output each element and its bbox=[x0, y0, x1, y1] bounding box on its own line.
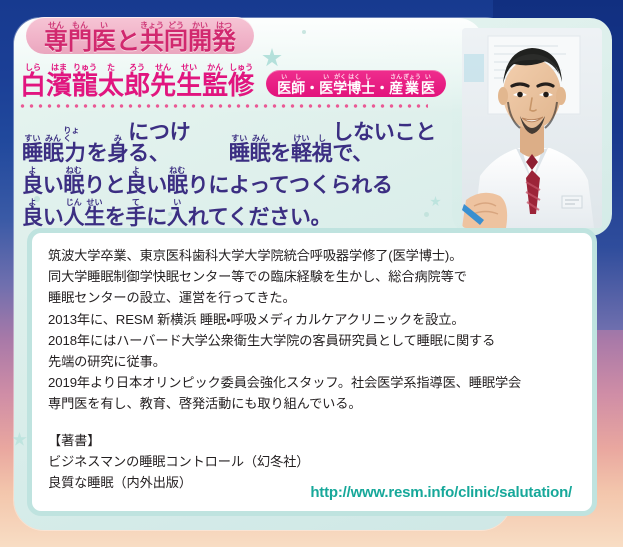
ruby-group: みん眠 bbox=[43, 135, 64, 164]
message-line: よ良 いじん人せい生 をて手 にい入 れてください。 bbox=[22, 199, 472, 228]
ruby-group: を bbox=[105, 199, 126, 228]
ruby-base: 共 bbox=[140, 30, 164, 54]
ruby-group: けい軽 bbox=[291, 135, 312, 164]
ruby-base: に bbox=[146, 207, 167, 228]
ruby-base: 修 bbox=[228, 72, 254, 98]
biography-line: 2013年に、RESM 新横浜 睡眠・呼吸メディカルケアクリニックを設立。 bbox=[48, 309, 576, 330]
ruby-group: すい睡 bbox=[229, 135, 250, 164]
ruby-group: ・ bbox=[375, 75, 389, 95]
ruby-base: い bbox=[146, 175, 167, 196]
ruby-base: 眠 bbox=[167, 175, 188, 196]
ruby-base: 濱 bbox=[46, 72, 72, 98]
ruby-base: い bbox=[43, 175, 64, 196]
ruby-base: い bbox=[43, 207, 64, 228]
ruby-group: い医 bbox=[319, 75, 333, 95]
ruby-group: た太 bbox=[98, 64, 124, 98]
ruby-base: 眠 bbox=[43, 143, 64, 164]
ruby-group: し師 bbox=[291, 75, 305, 95]
ruby-base: 睡 bbox=[229, 143, 250, 164]
biography-line: 先端の研究に従事。 bbox=[48, 351, 576, 372]
ruby-group: い bbox=[43, 199, 64, 228]
ruby-group: れてください。 bbox=[188, 199, 332, 228]
ruby-base: りと bbox=[84, 175, 125, 196]
ruby-base: 業 bbox=[405, 81, 419, 95]
ruby-group: を bbox=[87, 135, 108, 164]
ruby-base: 師 bbox=[291, 81, 305, 95]
ruby-group: せん先 bbox=[150, 64, 176, 98]
ruby-group: ろう郎 bbox=[124, 64, 150, 98]
ruby-group: きょう共 bbox=[140, 22, 164, 54]
ruby-base: 入 bbox=[167, 207, 188, 228]
ruby-group: ・ bbox=[305, 75, 319, 95]
ruby-base: しないことで、 bbox=[332, 122, 472, 164]
ruby-base: 専 bbox=[44, 30, 68, 54]
ruby-group: はま濱 bbox=[46, 64, 72, 98]
ruby-base: 医 bbox=[319, 81, 333, 95]
ruby-base: 良 bbox=[22, 207, 43, 228]
ruby-base: 先 bbox=[150, 72, 176, 98]
ruby-group: い bbox=[43, 167, 64, 196]
ruby-base: 士 bbox=[361, 81, 375, 95]
ruby-base: 眠 bbox=[63, 175, 84, 196]
ruby-base: 良 bbox=[22, 175, 43, 196]
book-item: ビジネスマンの睡眠コントロール（幻冬社） bbox=[48, 451, 576, 472]
ruby-group: かん監 bbox=[202, 64, 228, 98]
ruby-group: と bbox=[116, 22, 140, 54]
ruby-base: 医 bbox=[92, 30, 116, 54]
ruby-base: 生 bbox=[84, 207, 105, 228]
ruby-group: りょく力 bbox=[63, 127, 86, 164]
ruby-group: み身 bbox=[107, 135, 128, 164]
ruby-base: 視 bbox=[312, 143, 333, 164]
ruby-group: じん人 bbox=[63, 199, 84, 228]
ruby-group: せい生 bbox=[84, 199, 105, 228]
ruby-base: につける、 bbox=[128, 122, 229, 164]
headline-message: すい睡みん眠りょく力 をみ身 につける、すい睡みん眠 をけい軽し視 しないことで… bbox=[22, 114, 472, 231]
ruby-group: せん専 bbox=[44, 22, 68, 54]
credentials-text: い医し師 ・い医がく学はく博し士 ・さん産ぎょう業い医 bbox=[277, 75, 435, 95]
ruby-group: すい睡 bbox=[22, 135, 43, 164]
ruby-group: どう同 bbox=[164, 22, 188, 54]
ruby-base: 郎 bbox=[124, 72, 150, 98]
ruby-group: い医 bbox=[421, 75, 435, 95]
ruby-base: 人 bbox=[63, 207, 84, 228]
ruby-base: 産 bbox=[389, 81, 403, 95]
ruby-group: て手 bbox=[126, 199, 147, 228]
ruby-group: ねむ眠 bbox=[167, 167, 188, 196]
doctor-photo-illustration bbox=[462, 28, 602, 228]
ruby-group: よ良 bbox=[22, 199, 43, 228]
clinic-url[interactable]: http://www.resm.info/clinic/salutation/ bbox=[310, 484, 572, 501]
ruby-group: を bbox=[270, 135, 291, 164]
ruby-annotation: りょく bbox=[63, 127, 86, 143]
ruby-base: 同 bbox=[164, 30, 188, 54]
ruby-base: れてください。 bbox=[188, 207, 332, 228]
ruby-group: はつ発 bbox=[212, 22, 236, 54]
ruby-group: りゅう龍 bbox=[72, 64, 98, 98]
ruby-group: りによってつくられる bbox=[188, 167, 393, 196]
ruby-group: ねむ眠 bbox=[63, 167, 84, 196]
ribbon-ruby-text: せん専もん門い医 ときょう共どう同かい開はつ発 bbox=[44, 22, 236, 54]
ruby-group: い医 bbox=[92, 22, 116, 54]
biography-line: 同大学睡眠制御学快眠センター等での臨床経験を生かし、総合病院等で bbox=[48, 266, 576, 287]
ruby-base: を bbox=[105, 207, 126, 228]
ruby-group: しら白 bbox=[20, 64, 46, 98]
ruby-group: し視 bbox=[312, 135, 333, 164]
ruby-base: 医 bbox=[421, 81, 435, 95]
ruby-base: を bbox=[87, 143, 108, 164]
ruby-group: ぎょう業 bbox=[403, 75, 421, 95]
ruby-base: 博 bbox=[347, 81, 361, 95]
ruby-base: ・ bbox=[305, 81, 319, 95]
ruby-base: りによってつくられる bbox=[188, 175, 393, 196]
ruby-group: しゅう修 bbox=[228, 64, 254, 98]
biography-line: 2019年より日本オリンピック委員会強化スタッフ。社会医学系指導医、睡眠学会 bbox=[48, 372, 576, 393]
dotted-divider bbox=[18, 104, 428, 108]
ruby-group: い入 bbox=[167, 199, 188, 228]
ruby-group: かい開 bbox=[188, 22, 212, 54]
ruby-group: に bbox=[146, 199, 167, 228]
ruby-group: い医 bbox=[277, 75, 291, 95]
ruby-base: 学 bbox=[333, 81, 347, 95]
ruby-group: もん門 bbox=[68, 22, 92, 54]
ruby-base: 良 bbox=[126, 175, 147, 196]
info-card: 筑波大学卒業、東京医科歯科大学大学院統合呼吸器学修了(医学博士)。同大学睡眠制御… bbox=[27, 228, 597, 516]
ruby-base: 力 bbox=[65, 143, 86, 164]
ruby-group: につける、 bbox=[128, 114, 229, 164]
books-heading: 【著書】 bbox=[48, 430, 576, 451]
biography-line: 睡眠センターの設立、運営を行ってきた。 bbox=[48, 287, 576, 308]
ruby-base: 軽 bbox=[291, 143, 312, 164]
ruby-base: 発 bbox=[212, 30, 236, 54]
ruby-group: い bbox=[146, 167, 167, 196]
ruby-base: ・ bbox=[375, 81, 389, 95]
ruby-base: 龍 bbox=[72, 72, 98, 98]
ruby-group: よ良 bbox=[126, 167, 147, 196]
ruby-base: 太 bbox=[98, 72, 124, 98]
ruby-group: みん眠 bbox=[250, 135, 271, 164]
ruby-base: 生 bbox=[176, 72, 202, 98]
ruby-base: 監 bbox=[202, 72, 228, 98]
ruby-base: 医 bbox=[277, 81, 291, 95]
biography-line: 筑波大学卒業、東京医科歯科大学大学院統合呼吸器学修了(医学博士)。 bbox=[48, 245, 576, 266]
ruby-group: りと bbox=[84, 167, 125, 196]
ruby-base: と bbox=[116, 30, 140, 54]
ruby-base: 身 bbox=[107, 143, 128, 164]
ruby-group: はく博 bbox=[347, 75, 361, 95]
ruby-base: を bbox=[270, 143, 291, 164]
message-line: よ良 いねむ眠 りとよ良 いねむ眠 りによってつくられる bbox=[22, 167, 472, 196]
message-line: すい睡みん眠りょく力 をみ身 につける、すい睡みん眠 をけい軽し視 しないことで… bbox=[22, 114, 472, 164]
ruby-group: しないことで、 bbox=[332, 114, 472, 164]
ruby-base: 門 bbox=[68, 30, 92, 54]
doctor-name-text: しら白はま濱りゅう龍た太ろう郎せん先せい生かん監しゅう修 bbox=[20, 64, 254, 98]
bubble-decoration bbox=[302, 30, 306, 34]
biography-block: 筑波大学卒業、東京医科歯科大学大学院統合呼吸器学修了(医学博士)。同大学睡眠制御… bbox=[48, 245, 576, 415]
ruby-base: 白 bbox=[20, 72, 46, 98]
ruby-group: がく学 bbox=[333, 75, 347, 95]
banner-ribbon: せん専もん門い医 ときょう共どう同かい開はつ発 bbox=[26, 17, 254, 54]
ruby-base: 手 bbox=[126, 207, 147, 228]
credentials-badge: い医し師 ・い医がく学はく博し士 ・さん産ぎょう業い医 bbox=[266, 70, 446, 97]
ruby-group: よ良 bbox=[22, 167, 43, 196]
doctor-name-row: しら白はま濱りゅう龍た太ろう郎せん先せい生かん監しゅう修 い医し師 ・い医がく学… bbox=[20, 64, 446, 98]
biography-line: 専門医を有し、教育、啓発活動にも取り組んでいる。 bbox=[48, 393, 576, 414]
ruby-base: 睡 bbox=[22, 143, 43, 164]
ruby-group: せい生 bbox=[176, 64, 202, 98]
poster-root: せん専もん門い医 ときょう共どう同かい開はつ発 しら白はま濱りゅう龍た太ろう郎せ… bbox=[0, 0, 623, 547]
ruby-group: し士 bbox=[361, 75, 375, 95]
doctor-photo bbox=[462, 28, 602, 228]
ruby-base: 眠 bbox=[250, 143, 271, 164]
ruby-base: 開 bbox=[188, 30, 212, 54]
ruby-group: さん産 bbox=[389, 75, 403, 95]
biography-line: 2018年にはハーバード大学公衆衛生大学院の客員研究員として睡眠に関する bbox=[48, 330, 576, 351]
